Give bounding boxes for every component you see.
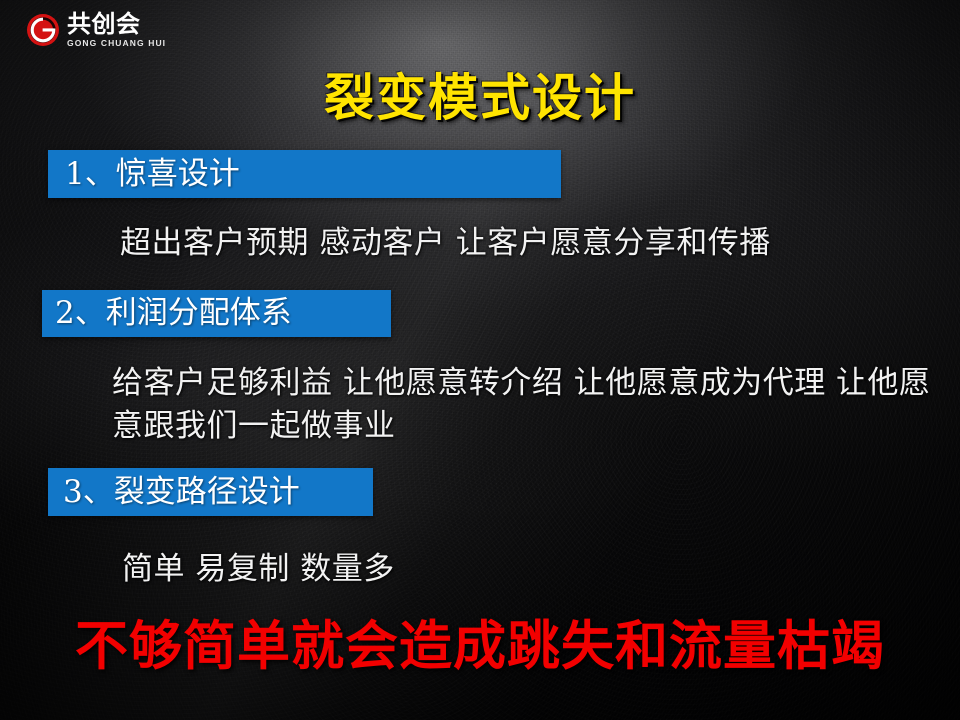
section-header-3-label: 3、裂变路径设计 <box>63 477 300 508</box>
brand-name-cn: 共创会 <box>67 12 166 36</box>
section-header-2: 2、利润分配体系 <box>42 290 391 337</box>
circular-g-logo-icon <box>26 13 60 47</box>
section-body-2: 给客户足够利益 让他愿意转介绍 让他愿意成为代理 让他愿意跟我们一起做事业 <box>112 362 932 449</box>
section-body-3: 简单 易复制 数量多 <box>122 548 902 591</box>
section-header-3: 3、裂变路径设计 <box>48 468 373 516</box>
section-header-2-label: 2、利润分配体系 <box>55 298 292 329</box>
section-header-1-label: 1、惊喜设计 <box>65 159 240 190</box>
section-header-1: 1、惊喜设计 <box>48 150 561 198</box>
brand-logo: 共创会 GONG CHUANG HUI <box>26 12 166 48</box>
section-body-1: 超出客户预期 感动客户 让客户愿意分享和传播 <box>120 222 930 265</box>
brand-name-en: GONG CHUANG HUI <box>67 39 166 48</box>
conclusion-statement: 不够简单就会造成跳失和流量枯竭 <box>0 604 960 680</box>
brand-logo-wordmark: 共创会 GONG CHUANG HUI <box>67 12 166 48</box>
slide-canvas: 共创会 GONG CHUANG HUI 裂变模式设计 1、惊喜设计 超出客户预期… <box>0 0 960 720</box>
slide-title: 裂变模式设计 <box>0 58 960 130</box>
